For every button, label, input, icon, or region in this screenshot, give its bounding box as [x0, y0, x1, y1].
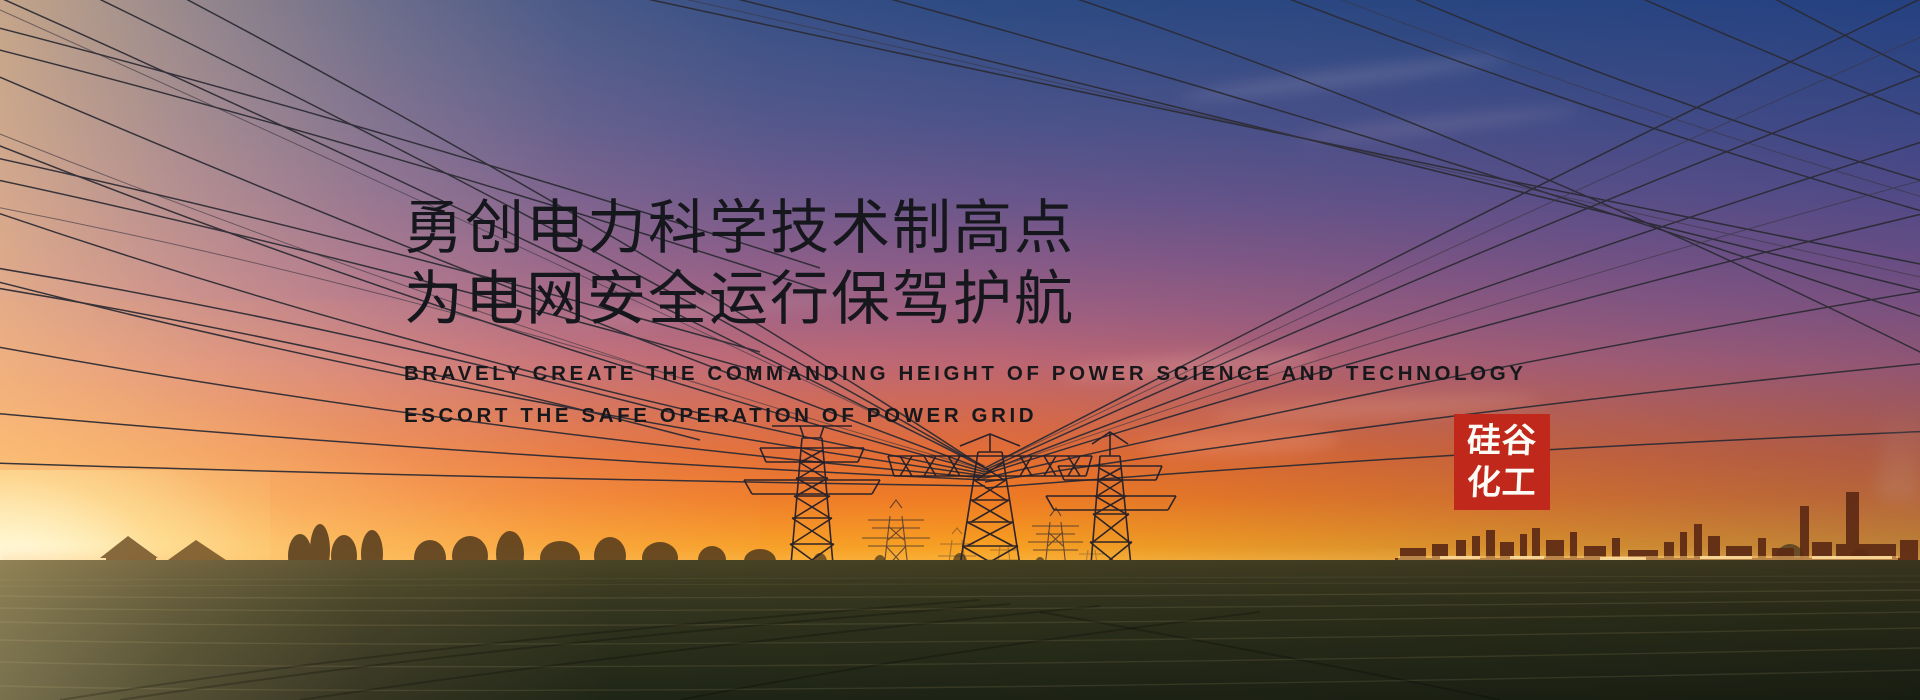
headline-line-1: 勇创电力科学技术制高点: [404, 192, 1484, 263]
subtitle-line-2: ESCORT THE SAFE OPERATION OF POWER GRID: [404, 395, 1484, 437]
banner-copy: 勇创电力科学技术制高点 为电网安全运行保驾护航 BRAVELY CREATE T…: [404, 192, 1484, 437]
logo-text-line-1: 硅谷: [1466, 420, 1538, 462]
field-furrows: [0, 560, 1920, 700]
hero-banner: 勇创电力科学技术制高点 为电网安全运行保驾护航 BRAVELY CREATE T…: [0, 0, 1920, 700]
headline-line-2: 为电网安全运行保驾护航: [404, 263, 1484, 334]
field-foreground: [0, 560, 1920, 700]
logo-text-line-2: 化工: [1466, 462, 1538, 504]
subtitle-line-1: BRAVELY CREATE THE COMMANDING HEIGHT OF …: [404, 353, 1484, 395]
company-logo-stamp[interactable]: 硅谷 化工: [1454, 414, 1550, 510]
